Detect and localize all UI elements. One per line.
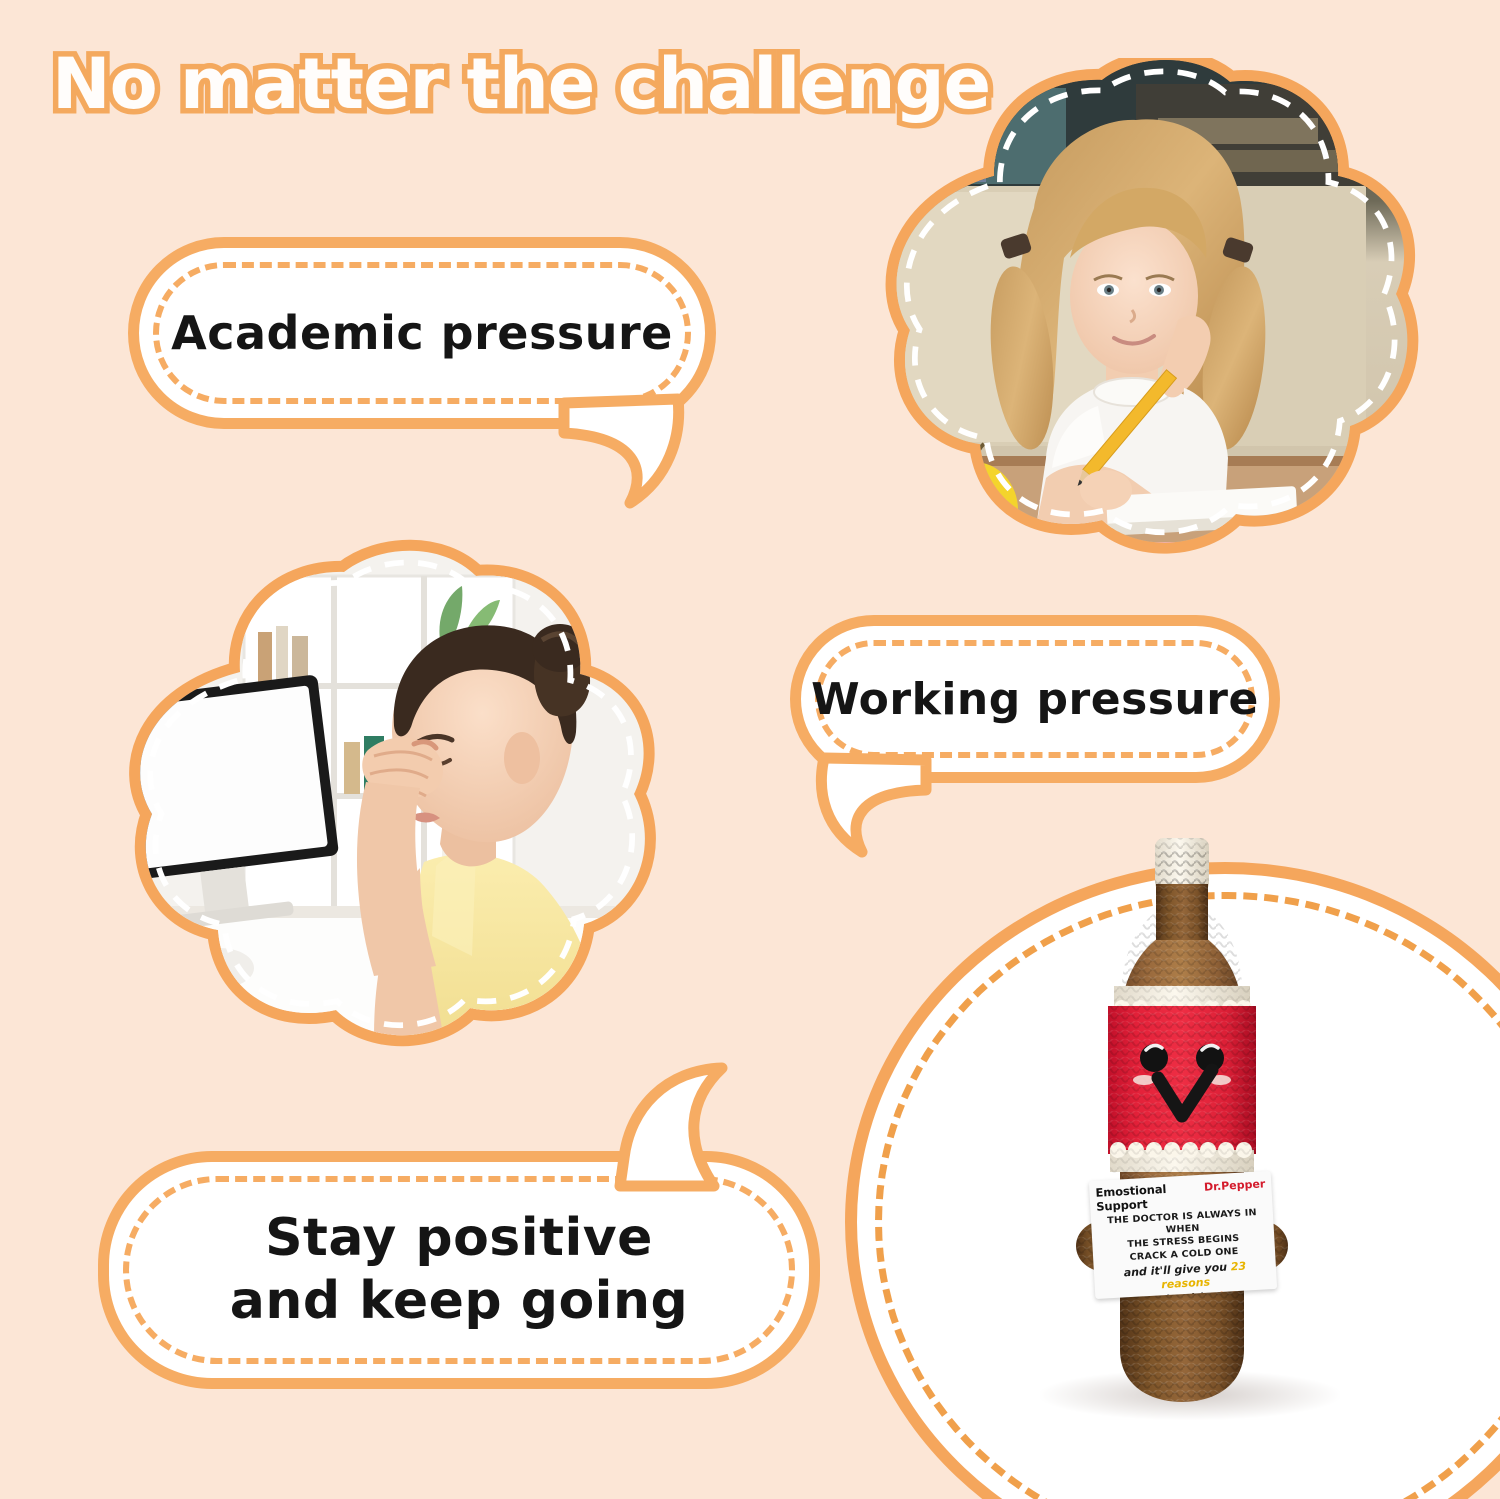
photo-girl-studying xyxy=(806,58,1426,568)
product-card-tag: Emostional Support Dr.Pepper THE DOCTOR … xyxy=(1089,1171,1277,1299)
product-doll-dr-pepper xyxy=(1062,832,1302,1402)
doll-trim-bottom xyxy=(1110,1142,1254,1174)
bubble-tail-stay xyxy=(610,1060,790,1192)
bubble-tail-working xyxy=(808,752,936,858)
bubble-stay-text: Stay positive and keep going xyxy=(109,1207,809,1334)
bubble-stay-line2: and keep going xyxy=(109,1270,809,1333)
promo-image: No matter the challenge xyxy=(0,0,1500,1499)
bubble-academic-label: Academic pressure xyxy=(139,306,705,360)
card-heading-main: Emostional Support xyxy=(1095,1180,1199,1214)
bubble-tail-academic xyxy=(556,393,692,511)
photo-woman-stressed xyxy=(44,536,684,1076)
bubble-working-label: Working pressure xyxy=(801,674,1269,725)
card-heading-brand: Dr.Pepper xyxy=(1204,1177,1266,1193)
bubble-stay-line1: Stay positive xyxy=(109,1207,809,1270)
